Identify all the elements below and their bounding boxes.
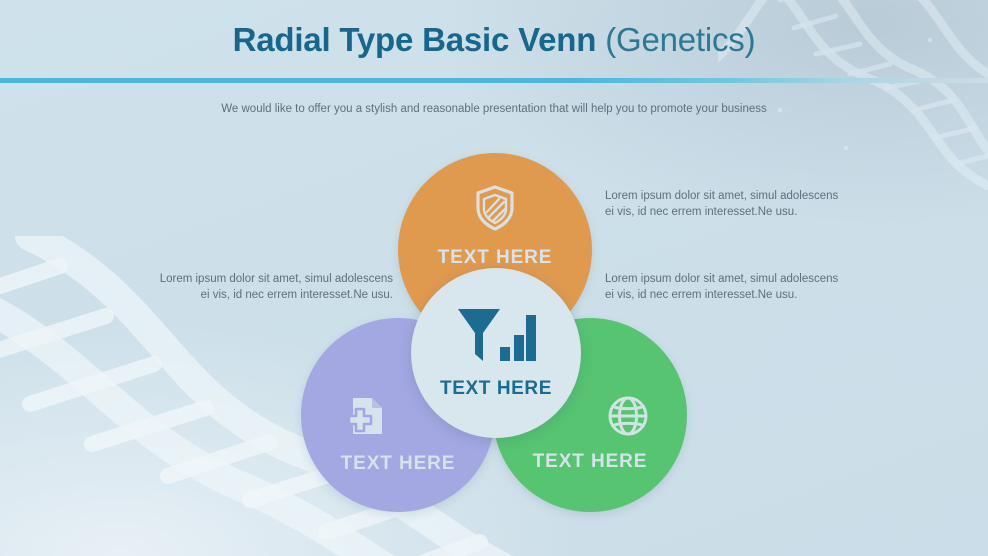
slide-canvas: Radial Type Basic Venn (Genetics) We wou…: [0, 0, 988, 556]
venn-lobe-purple-label: TEXT HERE: [341, 453, 456, 475]
caption-top-right: Lorem ipsum dolor sit amet, simul adoles…: [605, 188, 850, 220]
document-add-icon: [339, 394, 385, 445]
caption-left: Lorem ipsum dolor sit amet, simul adoles…: [148, 271, 393, 303]
venn-lobe-green-label: TEXT HERE: [533, 451, 648, 473]
globe-icon: [606, 394, 650, 443]
venn-center[interactable]: TEXT HERE: [411, 268, 581, 438]
caption-right: Lorem ipsum dolor sit amet, simul adoles…: [605, 271, 850, 303]
funnel-bar-chart-icon: [456, 307, 536, 374]
venn-center-label: TEXT HERE: [440, 378, 552, 400]
shield-icon: [473, 184, 517, 237]
venn-lobe-orange-label: TEXT HERE: [438, 247, 553, 269]
